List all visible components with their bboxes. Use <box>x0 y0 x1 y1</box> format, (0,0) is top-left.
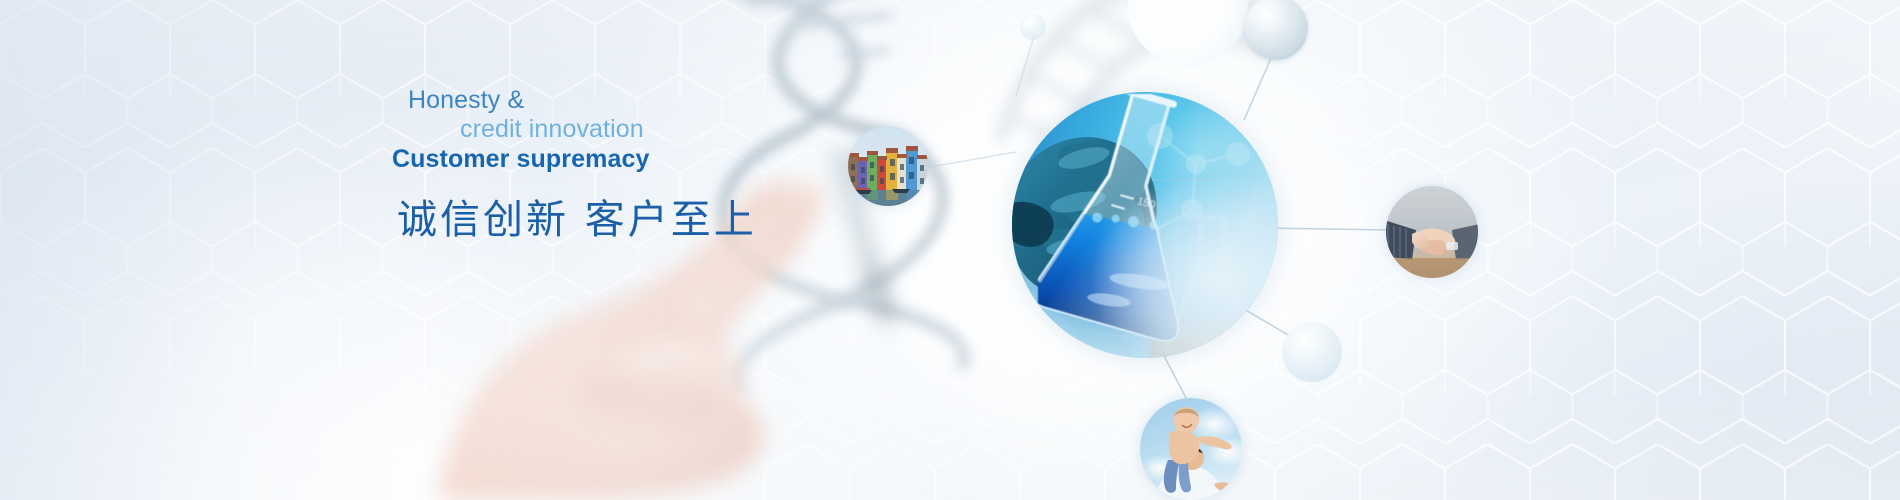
laboratory-flask-photo[interactable]: 25 Mn 26 Fe <box>1012 92 1278 358</box>
slogan-en-line-3: Customer supremacy <box>392 145 992 174</box>
lab-sphere-overlay <box>1012 92 1278 358</box>
handshake-image <box>1386 186 1478 278</box>
top-right-bubble-icon <box>1244 0 1308 60</box>
hexagon-pattern <box>0 0 1900 500</box>
final-overlay <box>0 0 1900 500</box>
slogan-en-line-2: credit innovation <box>460 115 992 144</box>
slogan-en-line-1: Honesty & <box>408 86 992 115</box>
white-glow-bubble <box>1128 0 1248 66</box>
connector-lines <box>0 0 1900 500</box>
slogan-cn-line: 诚信创新 客户至上 <box>397 196 992 244</box>
family-photo[interactable] <box>1140 398 1242 500</box>
small-bubble-icon <box>1020 14 1046 40</box>
promo-banner: Honesty & credit innovation Customer sup… <box>0 0 1900 500</box>
bottom-right-bubble-icon <box>1282 322 1342 382</box>
slogan-block: Honesty & credit innovation Customer sup… <box>392 86 992 244</box>
light-wash <box>0 0 1900 500</box>
left-edge-shade <box>0 0 420 500</box>
family-image <box>1140 398 1242 500</box>
handshake-photo[interactable] <box>1386 186 1478 278</box>
